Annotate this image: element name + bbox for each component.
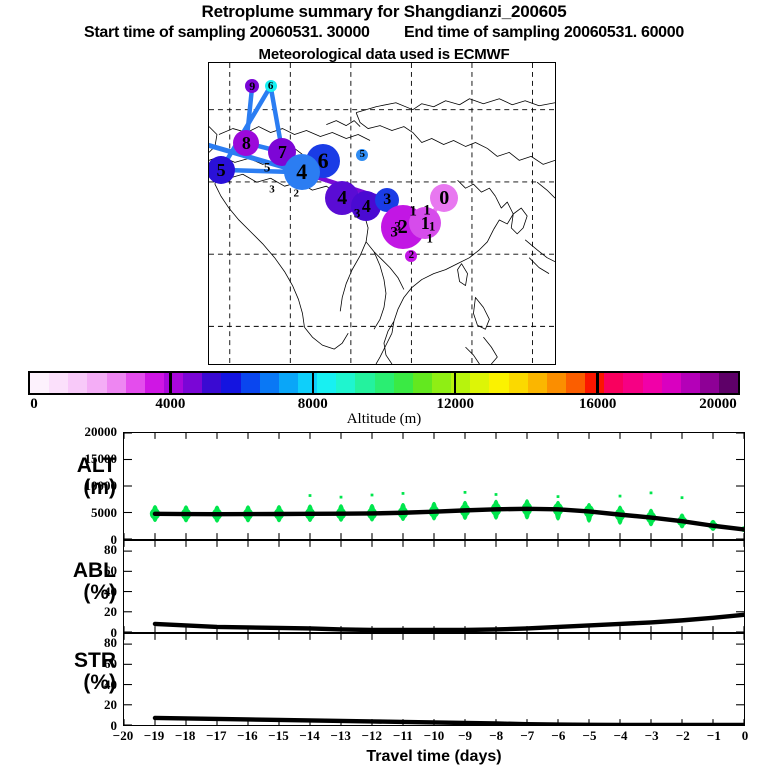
altitude-timeseries-plot[interactable]	[123, 432, 745, 540]
colorbar-segment	[241, 373, 260, 393]
colorbar-segment	[604, 373, 623, 393]
colorbar-segment	[87, 373, 106, 393]
y-axis-tick-label: 10000	[57, 478, 117, 494]
map-coastlines	[209, 63, 555, 364]
str-timeseries-plot[interactable]	[123, 633, 745, 726]
y-axis-tick-label: 80	[57, 635, 117, 651]
trajectory-day-marker: 8	[233, 130, 259, 156]
x-axis-tick-label: −3	[645, 728, 659, 744]
colorbar-segment	[509, 373, 528, 393]
colorbar-separator	[596, 371, 599, 395]
colorbar-segment	[279, 373, 298, 393]
trajectory-day-label: 2	[293, 188, 299, 199]
x-axis-tick-label: −19	[144, 728, 164, 744]
met-data-label: Meteorological data used is ECMWF	[0, 46, 768, 63]
colorbar-segment	[432, 373, 451, 393]
y-axis-tick-label: 40	[57, 677, 117, 693]
trajectory-day-marker: 2	[405, 250, 417, 262]
colorbar-segment	[126, 373, 145, 393]
colorbar-segment	[107, 373, 126, 393]
x-axis-tick-label: −16	[237, 728, 257, 744]
trajectory-day-marker: 5	[356, 149, 368, 161]
xaxis-title: Travel time (days)	[123, 748, 745, 766]
colorbar-segment	[30, 373, 49, 393]
y-axis-tick-label: 5000	[57, 505, 117, 521]
colorbar-segment	[489, 373, 508, 393]
colorbar-segment	[260, 373, 279, 393]
x-axis-tick-label: −1	[707, 728, 721, 744]
x-axis-tick-label: −17	[206, 728, 226, 744]
altitude-colorbar	[28, 371, 740, 395]
sampling-time-line: Start time of sampling 20060531. 30000 E…	[0, 24, 768, 42]
trajectory-day-label: 1	[409, 204, 417, 219]
colorbar-segment	[719, 373, 738, 393]
colorbar-segment	[662, 373, 681, 393]
y-axis-tick-label: 60	[57, 563, 117, 579]
trajectory-day-label: 3	[394, 219, 401, 232]
trajectory-day-label: 1	[423, 204, 431, 219]
x-axis-tick-label: −18	[175, 728, 195, 744]
colorbar-segment	[164, 373, 183, 393]
x-axis-tick-label: −20	[113, 728, 133, 744]
x-axis-tick-label: 0	[742, 728, 749, 744]
x-axis-tick-label: −6	[551, 728, 565, 744]
colorbar-segment	[413, 373, 432, 393]
y-axis-tick-label: 20000	[57, 424, 117, 440]
end-time-label: End time of sampling 20060531. 60000	[404, 24, 684, 41]
colorbar-segment	[355, 373, 374, 393]
colorbar-segment	[221, 373, 240, 393]
colorbar-segment	[470, 373, 489, 393]
x-axis-tick-label: −7	[520, 728, 534, 744]
abl-timeseries-plot[interactable]	[123, 540, 745, 633]
colorbar-segment	[145, 373, 164, 393]
trajectory-day-label: 1	[426, 231, 433, 244]
y-axis-tick-label: 20	[57, 697, 117, 713]
x-axis-tick-label: −2	[676, 728, 690, 744]
y-axis-tick-label: 40	[57, 584, 117, 600]
colorbar-separator	[312, 371, 315, 395]
x-axis-tick-label: −14	[299, 728, 319, 744]
trajectory-day-label: 5	[264, 160, 271, 173]
page-title: Retroplume summary for Shangdianzi_20060…	[0, 2, 768, 22]
retroplume-map[interactable]: 9687556444302125323331111	[208, 62, 556, 365]
x-axis-tick-label: −4	[614, 728, 628, 744]
colorbar-segment	[298, 373, 317, 393]
x-axis-tick-label: −15	[268, 728, 288, 744]
colorbar-segment	[547, 373, 566, 393]
x-axis-tick-label: −10	[424, 728, 444, 744]
trajectory-day-marker: 5	[208, 156, 235, 184]
colorbar-segment	[528, 373, 547, 393]
colorbar-segment	[700, 373, 719, 393]
colorbar-segment	[394, 373, 413, 393]
x-axis-tick-label: −5	[583, 728, 597, 744]
y-axis-tick-label: 80	[57, 542, 117, 558]
x-axis-tick-label: −11	[393, 728, 413, 744]
x-axis-tick-label: −9	[458, 728, 472, 744]
trajectory-day-marker: 9	[245, 79, 259, 93]
colorbar-segment	[566, 373, 585, 393]
trajectory-day-marker: 4	[284, 154, 320, 190]
colorbar-segment	[681, 373, 700, 393]
colorbar-segment	[49, 373, 68, 393]
colorbar-segment	[375, 373, 394, 393]
y-axis-tick-label: 0	[57, 718, 117, 734]
trajectory-day-marker: 0	[430, 184, 458, 212]
colorbar-segment	[68, 373, 87, 393]
colorbar-segment	[202, 373, 221, 393]
start-time-label: Start time of sampling 20060531. 30000	[84, 24, 370, 41]
x-axis-tick-label: −8	[489, 728, 503, 744]
colorbar-separator	[454, 371, 457, 395]
colorbar-separator	[169, 371, 172, 395]
y-axis-tick-label: 60	[57, 656, 117, 672]
colorbar-segment	[643, 373, 662, 393]
x-axis-tick-label: −12	[362, 728, 382, 744]
colorbar-segment	[336, 373, 355, 393]
y-axis-tick-label: 15000	[57, 451, 117, 467]
x-axis-tick-label: −13	[330, 728, 350, 744]
colorbar-segment	[623, 373, 642, 393]
colorbar-segment	[317, 373, 336, 393]
colorbar-segment	[585, 373, 604, 393]
colorbar-segment	[183, 373, 202, 393]
y-axis-tick-label: 20	[57, 604, 117, 620]
trajectory-day-label: 3	[354, 206, 361, 219]
trajectory-day-marker: 6	[265, 80, 277, 92]
trajectory-day-label: 3	[269, 185, 275, 196]
